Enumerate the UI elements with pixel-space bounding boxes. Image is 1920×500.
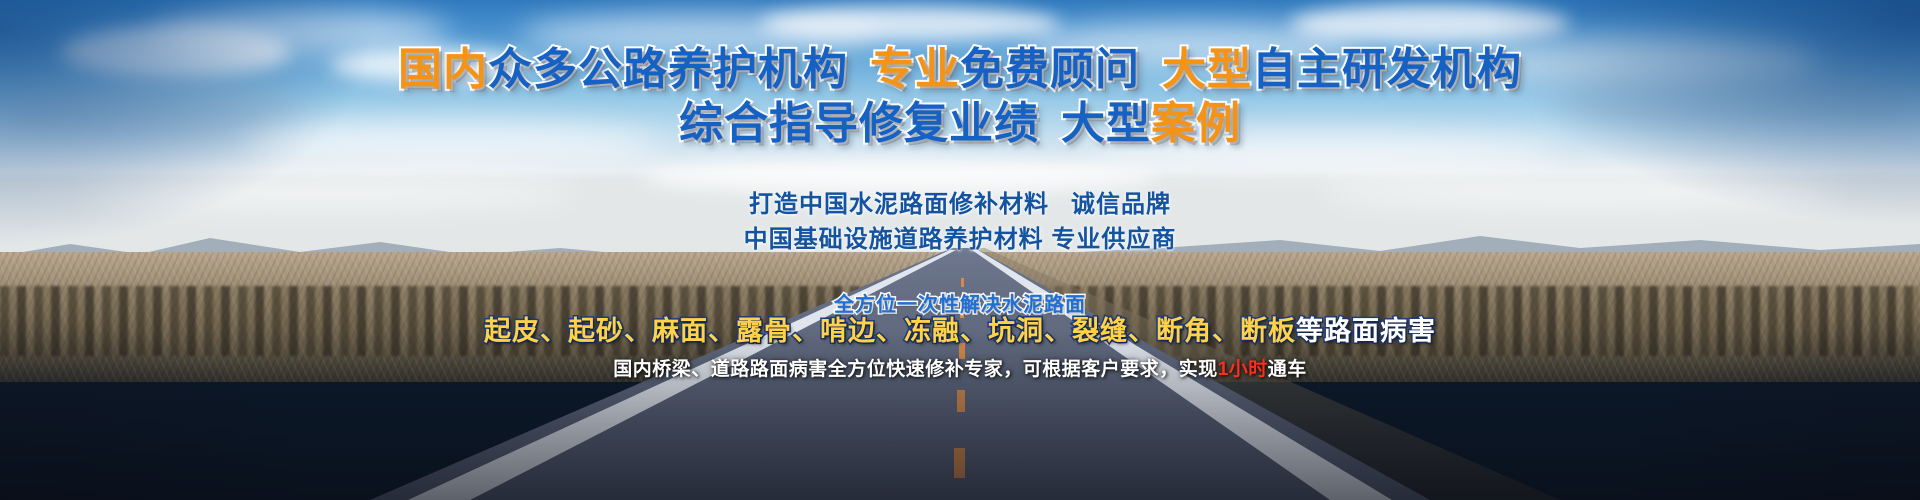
headline1-seg-free-consult: 免费顾问 bbox=[960, 45, 1140, 94]
headline2-seg-cases: 案例 bbox=[1151, 99, 1241, 148]
headline1-seg-domestic: 国内 bbox=[398, 45, 488, 94]
foreground-vignette bbox=[0, 330, 1920, 500]
headline2-seg-guidance: 综合指导修复业绩 bbox=[679, 99, 1039, 148]
promo-banner: 国内众多公路养护机构专业免费顾问大型自主研发机构 综合指导修复业绩大型案例 打造… bbox=[0, 0, 1920, 500]
subhead2-main: 中国基础设施道路养护材料 bbox=[744, 226, 1044, 253]
headline1-seg-agencies: 众多公路养护机构 bbox=[488, 45, 848, 94]
bottom-claim-text: 国内桥梁、道路路面病害全方位快速修补专家，可根据客户要求，实现1小时通车 bbox=[613, 360, 1307, 379]
claim-part-a: 国内桥梁、道路路面病害全方位快速修补专家，可根据客户要求，实现 bbox=[613, 359, 1218, 380]
headline1-seg-rnd: 自主研发机构 bbox=[1252, 45, 1522, 94]
defect-list-items: 起皮、起砂、麻面、露骨、啃边、冻融、坑洞、裂缝、断角、断板 bbox=[484, 316, 1296, 346]
headline-line-1: 国内众多公路养护机构专业免费顾问大型自主研发机构 bbox=[398, 48, 1522, 92]
headline-line-2: 综合指导修复业绩大型案例 bbox=[679, 102, 1241, 146]
claim-highlight-duration: 1小时 bbox=[1218, 359, 1268, 380]
headline1-seg-large: 大型 bbox=[1162, 45, 1252, 94]
bottom-lead-text: 全方位一次性解决水泥路面 bbox=[834, 295, 1086, 315]
subhead1-main: 打造中国水泥路面修补材料 bbox=[749, 191, 1049, 218]
subhead2-tag: 专业供应商 bbox=[1051, 226, 1176, 253]
headline2-seg-large: 大型 bbox=[1061, 99, 1151, 148]
subhead-line-1: 打造中国水泥路面修补材料诚信品牌 bbox=[749, 193, 1171, 217]
headline1-seg-professional: 专业 bbox=[870, 45, 960, 94]
claim-part-b: 通车 bbox=[1268, 359, 1307, 380]
subhead1-tag: 诚信品牌 bbox=[1071, 191, 1171, 218]
bottom-defect-list: 起皮、起砂、麻面、露骨、啃边、冻融、坑洞、裂缝、断角、断板等路面病害 bbox=[484, 318, 1436, 345]
defect-list-suffix: 等路面病害 bbox=[1296, 316, 1436, 346]
subhead-line-2: 中国基础设施道路养护材料 专业供应商 bbox=[744, 228, 1177, 252]
